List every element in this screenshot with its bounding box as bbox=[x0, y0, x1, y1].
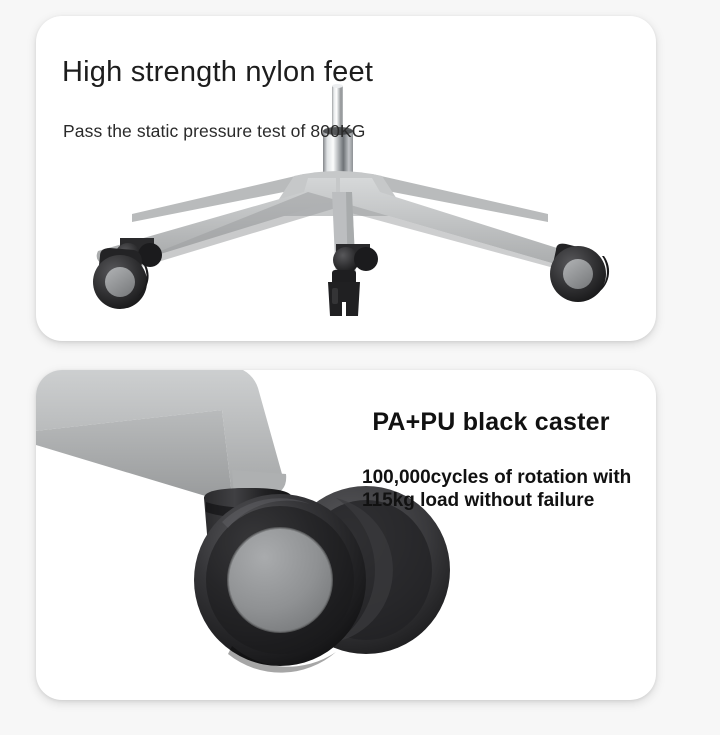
caster-hub-front bbox=[228, 528, 332, 632]
caster-front-right bbox=[550, 244, 609, 302]
caster-rear-right bbox=[333, 244, 378, 273]
caster-housing bbox=[204, 488, 292, 554]
base-arm-shadow bbox=[36, 410, 268, 504]
caster-body-line-2: 115kg load without failure bbox=[362, 489, 631, 512]
base-arm-right bbox=[340, 178, 593, 270]
panel-subtitle-nylon-feet: Pass the static pressure test of 800KG bbox=[63, 121, 365, 142]
base-hub bbox=[268, 171, 408, 216]
caster-wheel-front bbox=[194, 494, 366, 666]
caster-rear-left bbox=[115, 238, 162, 269]
caster-front-center bbox=[328, 270, 360, 316]
caster-hub-right bbox=[563, 259, 593, 289]
panel-body-pa-pu-caster: 100,000cycles of rotation with 115kg loa… bbox=[362, 466, 631, 512]
caster-hub-left bbox=[105, 267, 135, 297]
panel-heading-pa-pu-caster: PA+PU black caster bbox=[346, 408, 636, 437]
base-arm-left bbox=[97, 178, 336, 264]
caster-fork-center bbox=[328, 282, 360, 316]
caster-wheel-left bbox=[93, 255, 147, 309]
caster-body-line-1: 100,000cycles of rotation with bbox=[362, 466, 631, 489]
base-center-column bbox=[332, 192, 356, 282]
caster-rear-wheel bbox=[167, 502, 335, 670]
panel-nylon-feet: High strength nylon feet Pass the static… bbox=[36, 16, 656, 341]
caster-front-left bbox=[93, 248, 149, 309]
product-feature-image: High strength nylon feet Pass the static… bbox=[0, 0, 720, 735]
base-rear-spokes bbox=[132, 174, 548, 222]
panel-pa-pu-caster: PA+PU black caster 100,000cycles of rota… bbox=[36, 370, 656, 700]
base-arm bbox=[36, 370, 283, 496]
panel-title-nylon-feet: High strength nylon feet bbox=[62, 56, 373, 89]
caster-wheel-right bbox=[550, 246, 606, 302]
